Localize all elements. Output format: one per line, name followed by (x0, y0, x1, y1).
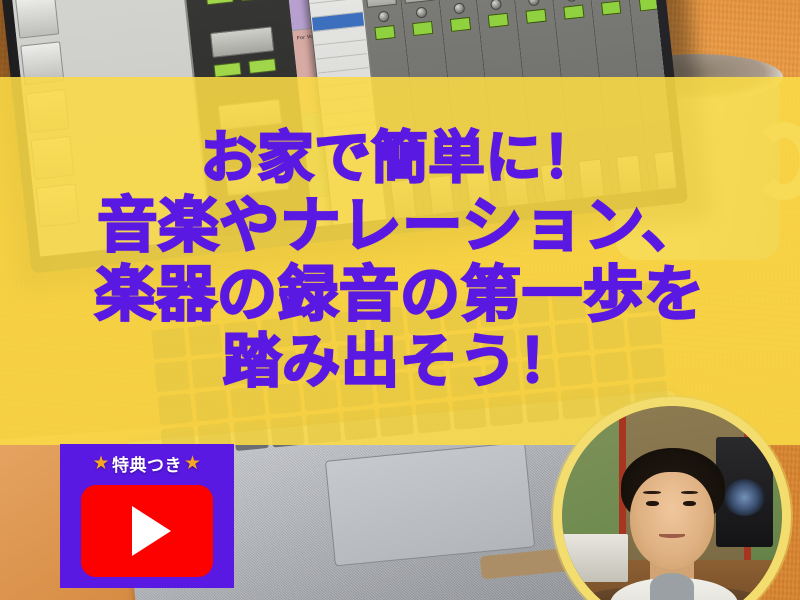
star-icon-right: ★ (184, 454, 202, 473)
level-meter (601, 1, 622, 16)
channel-slot (403, 0, 434, 4)
level-meter (412, 21, 433, 36)
level-meter (375, 26, 396, 41)
daw-led (214, 62, 242, 77)
pan-knob (528, 0, 540, 7)
level-meter (563, 5, 584, 20)
presenter-collar (650, 573, 694, 599)
presenter-face (630, 472, 714, 569)
headline-line-3: 楽器の録音の第一歩を (95, 263, 705, 326)
level-meter (450, 17, 471, 32)
pan-knob (453, 3, 465, 15)
level-meter (488, 13, 509, 28)
pan-knob (490, 0, 502, 11)
channel-slot (366, 0, 397, 8)
headline-line-2: 音楽やナレーション、 (97, 194, 702, 257)
portrait-image (562, 406, 782, 600)
bonus-badge: ★ 特典つき ★ (92, 451, 201, 476)
pan-knob (378, 11, 390, 23)
play-triangle-icon (132, 506, 171, 556)
headline-text: お家で簡単に！ 音楽やナレーション、 楽器の録音の第一歩を 踏み出そう！ (0, 77, 800, 445)
speaker-cone (724, 479, 765, 516)
presenter-portrait (553, 397, 791, 600)
bonus-badge-label: 特典つき (112, 451, 182, 476)
daw-track-strip (16, 0, 59, 39)
star-icon-left: ★ (92, 454, 110, 473)
daw-insert-button (210, 26, 274, 58)
daw-led (248, 59, 276, 74)
headline-line-4: 踏み出そう！ (223, 332, 577, 393)
daw-led (240, 0, 268, 1)
level-meter (638, 0, 659, 12)
pan-knob (566, 0, 578, 3)
presenter-eyebrow-left (643, 491, 661, 495)
presenter-eye-left (646, 501, 659, 507)
thumbnail-canvas: For Vocal For Vocal Comp For Vocal Mix I… (0, 0, 800, 600)
laptop-trackpad (324, 441, 535, 566)
youtube-play-button[interactable] (81, 485, 213, 577)
studio-monitor (562, 534, 628, 582)
headline-line-1: お家で簡単に！ (201, 129, 600, 188)
level-meter (525, 9, 546, 24)
pan-knob (415, 7, 427, 19)
daw-led (206, 0, 234, 5)
cta-panel[interactable]: ★ 特典つき ★ (60, 444, 234, 588)
